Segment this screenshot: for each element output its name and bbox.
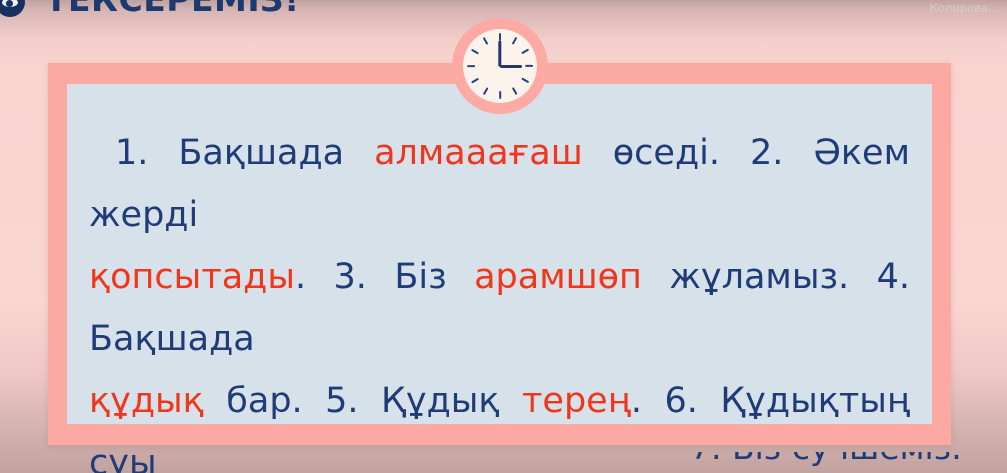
clock-tick [471, 49, 479, 55]
sentence-line: 1. Бақшада алмааағаш өседі. 2. Әкем жерд… [89, 122, 910, 246]
sentence-list: 1. Бақшада алмааағаш өседі. 2. Әкем жерд… [89, 122, 910, 473]
highlighted-word: алмааағаш [374, 133, 583, 173]
clock-tick [512, 87, 518, 95]
clock-icon [452, 18, 548, 114]
copy-status-label: Копирова... [930, 1, 999, 15]
clock-tick [483, 87, 489, 95]
clock-tick [521, 78, 529, 84]
page-title: ТЕКСЕРЕМІЗ! [45, 0, 300, 19]
highlighted-word: қопсытады [89, 257, 295, 297]
next-line-clipped: 7. Біз су ішеміз. [0, 452, 1007, 473]
clock-minute-hand [498, 41, 501, 67]
clock-tick [499, 91, 501, 99]
content-card-inner: 1. Бақшада алмааағаш өседі. 2. Әкем жерд… [67, 84, 932, 424]
next-line-text: 7. Біз су ішеміз. [690, 452, 962, 467]
clock-hour-hand [500, 65, 522, 68]
highlighted-word: терең [522, 381, 631, 421]
highlighted-word: арамшөп [474, 257, 642, 297]
video-frame: ТЕКСЕРЕМІЗ! Копирова... 1. Бақшада алмаа… [0, 0, 1007, 473]
content-card: 1. Бақшада алмааағаш өседі. 2. Әкем жерд… [48, 63, 951, 445]
clock-face [463, 29, 537, 103]
sentence-line: қопсытады. 3. Біз арамшөп жұламыз. 4. Ба… [89, 246, 910, 370]
clock-tick [483, 37, 489, 45]
clock-tick [512, 37, 518, 45]
clock-tick [471, 78, 479, 84]
highlighted-word: құдық [89, 381, 204, 421]
clock-tick [467, 65, 475, 67]
clock-tick [525, 65, 533, 67]
clock-tick [521, 49, 529, 55]
sentence-text: бар. 5. Құдық [204, 381, 522, 421]
sentence-text: 1. Бақшада [115, 133, 374, 173]
sentence-text: . 3. Біз [295, 257, 474, 297]
